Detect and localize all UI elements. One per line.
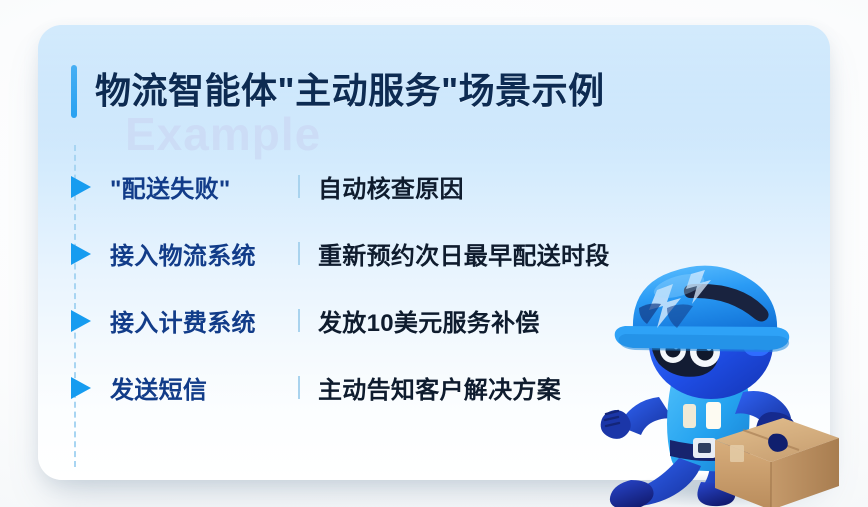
mascot-chest-badge-right [706, 402, 721, 429]
watermark-text: Example [125, 111, 321, 157]
row-value: 发放10美元服务补偿 [318, 303, 540, 338]
row-divider [298, 376, 300, 399]
row-label: 接入物流系统 [110, 236, 298, 271]
mascot-chest-badge-left [683, 404, 696, 428]
triangle-right-icon [71, 243, 91, 265]
row-label: 接入计费系统 [110, 303, 298, 338]
page-title: 物流智能体"主动服务"场景示例 [95, 73, 605, 109]
row-divider [298, 309, 300, 332]
row-divider [298, 175, 300, 198]
triangle-right-icon [71, 377, 91, 399]
scenario-row-1[interactable]: "配送失败" 自动核查原因 [38, 153, 830, 220]
delivery-robot-mascot [575, 252, 845, 507]
mascot-front-boot [610, 480, 654, 507]
triangle-right-icon [71, 176, 91, 198]
heading-accent-bar [71, 65, 77, 118]
page-root: Example 物流智能体"主动服务"场景示例 "配送失败" 自动核查原因 接入… [0, 0, 868, 507]
row-value: 主动告知客户解决方案 [318, 370, 561, 405]
triangle-right-icon [71, 310, 91, 332]
row-value: 重新预约次日最早配送时段 [318, 236, 610, 271]
row-divider [298, 242, 300, 265]
row-value: 自动核查原因 [318, 169, 464, 204]
row-label: 发送短信 [110, 370, 298, 405]
row-label: "配送失败" [110, 169, 298, 204]
